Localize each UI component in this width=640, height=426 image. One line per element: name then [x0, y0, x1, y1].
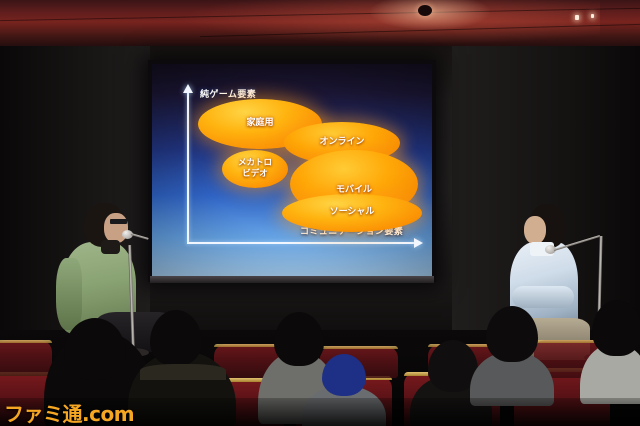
- audience-member-head: [486, 306, 538, 362]
- theater-seat-back-row: [0, 340, 52, 376]
- presenter-right-crossed-arms: [512, 286, 574, 308]
- projection-screen: 純ゲーム要素 コミュニケーション要素 家庭用 オンライン モバイル ソーシャル …: [152, 64, 432, 276]
- bubble-online-label: オンライン: [317, 137, 366, 148]
- presenter-left-arm: [56, 258, 82, 330]
- audience-member-head: [64, 318, 126, 380]
- x-axis-arrowhead: [414, 238, 423, 248]
- y-axis-arrowhead: [183, 84, 193, 93]
- y-axis-line: [187, 92, 189, 244]
- bubble-mobile-label: モバイル: [334, 185, 374, 196]
- y-axis-label: 純ゲーム要素: [200, 87, 256, 100]
- bubble-katei-label: 家庭用: [244, 118, 275, 129]
- theater-seat-trim: [0, 340, 52, 343]
- bubble-social-label: ソーシャル: [328, 207, 377, 218]
- famitsu-watermark: ファミ通.com: [4, 398, 134, 426]
- presenter-right-face: [524, 216, 546, 244]
- audience-member-head: [274, 312, 324, 366]
- presenter-left-glasses: [110, 219, 127, 224]
- ceiling-spotlight: [418, 5, 432, 16]
- ceiling-led-indicator: [575, 15, 579, 20]
- audience-member-head-beanie: [322, 354, 366, 396]
- audience-member-head: [592, 300, 640, 356]
- audience-member-shoulder-highlight: [140, 364, 226, 380]
- bubble-social: ソーシャル: [282, 194, 422, 232]
- theater-seat-trim: [320, 346, 398, 349]
- screenshot-root: 純ゲーム要素 コミュニケーション要素 家庭用 オンライン モバイル ソーシャル …: [0, 0, 640, 426]
- audience-member-head: [150, 310, 202, 366]
- bubble-mechatro-video: メカトロ ビデオ: [222, 150, 288, 188]
- ceiling-led-indicator: [591, 14, 594, 18]
- presenter-left-collar: [101, 240, 120, 254]
- screen-bottom-trim: [150, 276, 434, 283]
- bubble-mechatro-video-label: メカトロ ビデオ: [236, 158, 274, 179]
- x-axis-line: [187, 242, 415, 244]
